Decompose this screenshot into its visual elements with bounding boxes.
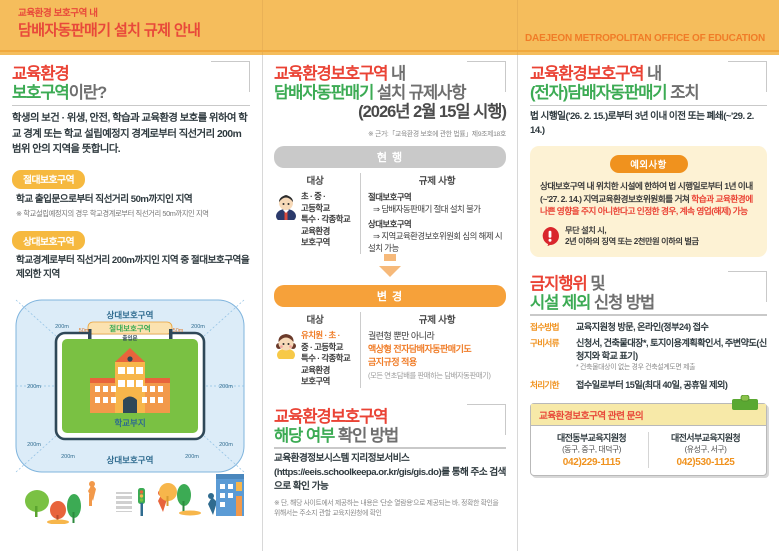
contact-west-area: (유성구, 서구) [649,444,762,455]
right-subtitle: 법 시행일('26. 2. 15.)로부터 3년 이내 이전 또는 폐쇄(~'2… [530,110,767,137]
apply-title-line1a: 금지행위 [530,275,587,293]
label-relative-top: 상대보호구역 [107,310,154,320]
contact-card: 교육환경보호구역 관련 문의 대전동부교육지원청 (동구, 중구, 대덕구) 0… [530,403,767,476]
penalty-line2: 2년 이하의 징역 또는 2천만원 이하의 벌금 [565,237,699,246]
apply-row-deadline: 처리기한 접수일로부터 15일(최대 40일, 공휴일 제외) [530,379,767,392]
middle-column: 교육환경보호구역 내 담배자동판매기 설치 규제사항 (2026년 2월 15일… [262,55,517,551]
current-rule-2: 상대보호구역 ⇒ 지역교육환경보호위원회 심의 해제 시 설치 가능 [368,218,506,254]
zone-relative-pill: 상대보호구역 [12,231,85,250]
changed-rule-col: 규제 사항 궐련형 뿐만 아니라 액상형 전자담배자동판매기도 금지규정 적용 … [360,312,506,388]
changed-rule-hl1: 액상형 전자담배자동판매기도 [368,344,471,354]
check-title-corner-decor [467,404,506,435]
mid-title-corner-decor [467,61,506,92]
label-relative-bottom: 상대보호구역 [107,455,154,465]
current-rule-1-head: 절대보호구역 [368,192,411,202]
current-head-rule: 규제 사항 [368,173,506,187]
office-name: DAEJEON METROPOLITAN OFFICE OF EDUCATION [525,33,765,44]
svg-text:200m: 200m [191,324,205,330]
apply-value-deadline: 접수일로부터 15일(최대 40일, 공휴일 제외) [576,379,767,392]
changed-target-highlight: 유치원 · 초 · [301,330,340,340]
header-bottom-rule [0,50,779,52]
right-title-corner-decor [728,61,767,92]
current-rule-col: 규제 사항 절대보호구역 ⇒ 담배자동판매기 절대 설치 불가 상대보호구역 ⇒… [360,173,506,254]
apply-row-documents: 구비서류 신청서, 건축물대장*, 토지이용계획확인서, 주변약도(신청지와 학… [530,337,767,375]
current-rule-1: 절대보호구역 ⇒ 담배자동판매기 절대 설치 불가 [368,191,506,215]
mid-title-line1a: 교육환경보호구역 [274,65,387,83]
mid-section-title: 교육환경보호구역 내 담배자동판매기 설치 규제사항 (2026년 2월 15일… [274,65,506,122]
contact-west-tel[interactable]: 042)530-1125 [649,457,762,468]
current-rule-2-head: 상대보호구역 [368,219,411,229]
protection-zone-diagram: 상대보호구역 상대보호구역 절대보호구역 출입문 학교부지 200m 200m … [12,296,248,524]
contact-east-area: (동구, 중구, 대덕구) [535,444,648,455]
mid-title-line2a: 담배자동판매기 [274,84,373,102]
infographic-page: 교육환경 보호구역 내 담배자동판매기 설치 규제 안내 DAEJEON MET… [0,0,779,551]
exclamation-warning-icon [540,226,560,246]
right-title-line2a: (전자)담배자동판매기 [530,84,667,102]
contact-office-east: 대전동부교육지원청 (동구, 중구, 대덕구) 042)229-1115 [535,432,648,468]
table-changed: 대상 유치원 · 초 ·중 · 고등학교특수 · 각종학교교육환경보호구역 [274,312,506,388]
left-title-line2a: 보호구역 [12,84,69,102]
student-boy-icon [274,192,298,220]
header-subtitle: 교육환경 보호구역 내 [18,8,200,20]
penalty-warning: 무단 설치 시, 2년 이하의 징역 또는 2천만원 이하의 벌금 [540,225,757,247]
kindergarten-girl-icon [274,331,298,359]
exception-box: 예외사항 상대보호구역 내 위치한 시설에 한하여 법 시행일로부터 1년 이내… [530,146,767,257]
changed-rule-note: (모든 연초담배를 판매하는 담배자동판매기) [368,371,491,380]
changed-head-target: 대상 [274,312,356,326]
apply-rows: 접수방법 교육지원청 방문, 온라인(정부24) 접수 구비서류 신청서, 건축… [530,321,767,392]
transition-arrow [274,254,506,277]
exception-pill: 예외사항 [610,155,688,173]
svg-text:50m: 50m [173,328,184,334]
penalty-text: 무단 설치 시, 2년 이하의 징역 또는 2천만원 이하의 벌금 [565,225,699,247]
zone-absolute-pill: 절대보호구역 [12,170,85,189]
apply-key-method: 접수방법 [530,321,576,334]
right-title-underline [530,105,767,106]
mid-source-note: ※ 근거:「교육환경 보호에 관한 법률」제9조제18호 [274,128,506,138]
table-current: 대상 초 · 중 ·고등학교특수 · 각종학교교육환경보호구역 규제 사항 [274,173,506,254]
page-header: 교육환경 보호구역 내 담배자동판매기 설치 규제 안내 DAEJEON MET… [0,0,779,55]
changed-rule-body: 궐련형 뿐만 아니라 액상형 전자담배자동판매기도 금지규정 적용 (모든 연초… [368,330,506,382]
changed-rule-plain: 궐련형 뿐만 아니라 [368,331,434,341]
mid-title-line2b: 설치 규제사항 [377,84,466,102]
changed-rule-hl2: 금지규정 적용 [368,357,417,367]
check-note: ※ 단, 해당 사이트에서 제공하는 내용은 '단순 열람용'으로 제공되는 바… [274,499,506,519]
contact-west-name: 대전서부교육지원청 [649,432,762,444]
zone-absolute-note: ※ 학교설립예정지의 경우 학교경계로부터 직선거리 50m까지인 지역 [12,208,250,219]
header-divider-2 [517,0,518,55]
svg-text:200m: 200m [219,384,233,390]
apply-row-method: 접수방법 교육지원청 방문, 온라인(정부24) 접수 [530,321,767,334]
contact-header: 교육환경보호구역 관련 문의 [531,404,766,426]
contact-office-west: 대전서부교육지원청 (유성구, 서구) 042)530-1125 [648,432,762,468]
apply-title-line2b: 신청 방법 [594,294,654,312]
apply-documents-text: 신청서, 건축물대장*, 토지이용계획확인서, 주변약도(신청지와 학교 표기) [576,338,767,361]
zone-absolute-text: 학교 출입문으로부터 직선거리 50m까지인 지역 [12,193,250,207]
check-title-line2b: 확인 방법 [338,427,398,445]
header-title: 담배자동판매기 설치 규제 안내 [18,21,200,40]
apply-documents-note: * 건축물대상이 없는 경우 건축설계도면 제출 [576,362,767,375]
label-absolute: 절대보호구역 [109,323,150,333]
apply-section-title: 금지행위 및 시설 제외 신청 방법 [530,275,767,313]
right-title-line1a: 교육환경보호구역 [530,65,643,83]
svg-text:50m: 50m [79,328,90,334]
apply-value-documents: 신청서, 건축물대장*, 토지이용계획확인서, 주변약도(신청지와 학교 표기)… [576,337,767,375]
svg-text:200m: 200m [61,454,75,460]
street-scene [25,474,244,524]
check-section-title: 교육환경보호구역 해당 여부 확인 방법 [274,408,506,446]
exception-text: 상대보호구역 내 위치한 시설에 한하여 법 시행일로부터 1년 이내(~'27… [540,180,757,218]
left-column: 교육환경 보호구역이란? 학생의 보건 · 위생, 안전, 학습과 교육환경 보… [0,55,262,551]
check-title-line2a: 해당 여부 [274,427,334,445]
current-head-target: 대상 [274,173,356,187]
apply-key-deadline: 처리기한 [530,379,576,392]
contact-east-name: 대전동부교육지원청 [535,432,648,444]
zone-relative: 상대보호구역 학교경계로부터 직선거리 200m까지인 지역 중 절대보호구역을… [12,219,250,282]
right-title-line1b: 내 [647,65,661,83]
apply-value-method: 교육지원청 방문, 온라인(정부24) 접수 [576,321,767,334]
svg-text:200m: 200m [55,324,69,330]
header-title-group: 교육환경 보호구역 내 담배자동판매기 설치 규제 안내 [18,8,200,40]
band-current: 현 행 [274,146,506,168]
contact-body: 대전동부교육지원청 (동구, 중구, 대덕구) 042)229-1115 대전서… [531,426,766,475]
current-rule-1-detail: ⇒ 담배자동판매기 절대 설치 불가 [368,204,481,214]
label-gate: 출입문 [122,334,137,342]
check-body: 교육환경정보시스템 지리정보서비스 (https://eeis.schoolke… [274,452,506,494]
label-campus: 학교부지 [114,418,145,428]
right-title-line2b: 조치 [670,84,698,102]
check-title-line1: 교육환경보호구역 [274,408,387,426]
apply-title-corner-decor [728,271,767,302]
check-title-underline [274,447,506,448]
current-target-col: 대상 초 · 중 ·고등학교특수 · 각종학교교육환경보호구역 [274,173,360,254]
zone-absolute: 절대보호구역 학교 출입문으로부터 직선거리 50m까지인 지역 ※ 학교설립예… [12,158,250,220]
title-underline [12,105,250,106]
svg-text:200m: 200m [27,384,41,390]
right-section-title: 교육환경보호구역 내 (전자)담배자동판매기 조치 [530,65,767,103]
apply-key-documents: 구비서류 [530,337,576,375]
contact-east-tel[interactable]: 042)229-1115 [535,457,648,468]
current-target-text: 초 · 중 ·고등학교특수 · 각종학교교육환경보호구역 [301,191,350,249]
svg-text:200m: 200m [219,442,233,448]
apply-title-line1b: 및 [590,275,604,293]
title-corner-decor [211,61,250,92]
right-column: 교육환경보호구역 내 (전자)담배자동판매기 조치 법 시행일('26. 2. … [517,55,779,551]
band-changed: 변 경 [274,285,506,307]
left-title-line2b: 이란? [69,84,106,102]
current-rule-2-detail: ⇒ 지역교육환경보호위원회 심의 해제 시 설치 가능 [368,231,502,253]
svg-text:200m: 200m [185,454,199,460]
zone-relative-text: 학교경계로부터 직선거리 200m까지인 지역 중 절대보호구역을 제외한 지역 [12,254,250,282]
mid-title-line3: (2026년 2월 15일 시행) [358,103,506,121]
changed-head-rule: 규제 사항 [368,312,506,326]
apply-title-line2a: 시설 제외 [530,294,590,312]
left-title-line1: 교육환경 [12,65,69,83]
left-section-title: 교육환경 보호구역이란? [12,65,250,103]
header-divider-1 [262,0,263,55]
changed-target-text: 유치원 · 초 ·중 · 고등학교특수 · 각종학교교육환경보호구역 [301,330,350,388]
mid-title-line1b: 내 [391,65,405,83]
left-description: 학생의 보건 · 위생, 안전, 학습과 교육환경 보호를 위하여 학교 경계 … [12,111,250,158]
changed-target-col: 대상 유치원 · 초 ·중 · 고등학교특수 · 각종학교교육환경보호구역 [274,312,360,388]
diagram-svg: 상대보호구역 상대보호구역 절대보호구역 출입문 학교부지 200m 200m … [12,296,248,524]
clip-icon [732,395,758,410]
svg-text:200m: 200m [27,442,41,448]
penalty-line1: 무단 설치 시, [565,226,606,235]
apply-title-underline [530,314,767,315]
